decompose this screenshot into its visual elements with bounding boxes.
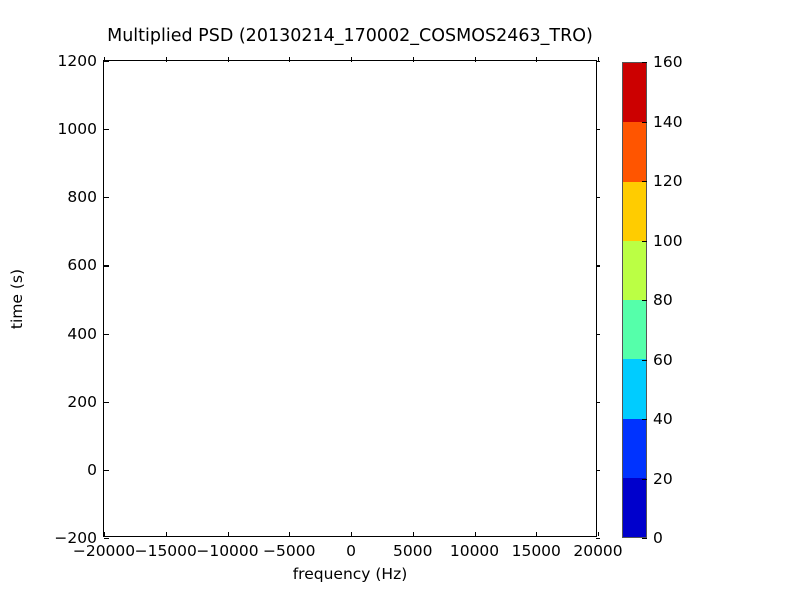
x-tick-label: 15000 — [512, 542, 561, 560]
main-axes: −200020040060080010001200 −20000−15000−1… — [103, 60, 597, 537]
colorbar-tick-mark — [642, 419, 647, 420]
y-tick-mark — [104, 538, 109, 539]
x-tick-mark — [598, 532, 599, 537]
y-tick-label: 1000 — [58, 120, 97, 138]
colorbar-band — [623, 63, 646, 122]
chart-title: Multiplied PSD (20130214_170002_COSMOS24… — [0, 26, 700, 46]
colorbar-tick-label: 80 — [653, 291, 673, 309]
x-tick-label: −15000 — [135, 542, 197, 560]
y-tick-label: 0 — [87, 461, 97, 479]
y-tick-label: 800 — [67, 188, 97, 206]
colorbar-band — [623, 419, 646, 478]
colorbar-band — [623, 359, 646, 418]
colorbar-band — [623, 478, 646, 537]
x-tick-mark — [166, 532, 167, 537]
y-tick-mark-right — [596, 197, 601, 198]
x-tick-mark — [104, 532, 105, 537]
colorbar-tick-label: 160 — [653, 53, 683, 71]
x-tick-mark-top — [228, 57, 229, 62]
x-tick-mark-top — [536, 57, 537, 62]
y-tick-label: 400 — [67, 325, 97, 343]
colorbar-band — [623, 300, 646, 359]
x-tick-label: −10000 — [196, 542, 258, 560]
x-tick-label: −5000 — [263, 542, 315, 560]
colorbar-tick-label: 60 — [653, 351, 673, 369]
x-tick-mark — [475, 532, 476, 537]
colorbar-tick-mark — [642, 479, 647, 480]
y-tick-mark — [104, 197, 109, 198]
colorbar-band — [623, 182, 646, 241]
x-tick-mark — [413, 532, 414, 537]
colorbar-band — [623, 241, 646, 300]
y-tick-mark-right — [596, 470, 601, 471]
y-tick-mark-right — [596, 402, 601, 403]
colorbar-tick-mark — [642, 300, 647, 301]
x-tick-mark-top — [351, 57, 352, 62]
figure-canvas: Multiplied PSD (20130214_170002_COSMOS24… — [0, 0, 800, 600]
y-axis-label: time (s) — [8, 269, 26, 329]
colorbar-tick-mark — [642, 62, 647, 63]
y-tick-label: 200 — [67, 393, 97, 411]
x-tick-label: 0 — [346, 542, 356, 560]
x-tick-mark-top — [289, 57, 290, 62]
y-tick-mark — [104, 470, 109, 471]
y-tick-label: 1200 — [58, 52, 97, 70]
colorbar-tick-label: 0 — [653, 529, 663, 547]
colorbar-tick-label: 140 — [653, 113, 683, 131]
colorbar-tick-mark — [642, 538, 647, 539]
x-tick-mark-top — [598, 57, 599, 62]
x-tick-mark-top — [413, 57, 414, 62]
colorbar-tick-label: 20 — [653, 470, 673, 488]
y-tick-mark — [104, 129, 109, 130]
x-tick-label: 20000 — [573, 542, 622, 560]
y-tick-mark-right — [596, 129, 601, 130]
x-tick-mark — [536, 532, 537, 537]
colorbar-tick-label: 40 — [653, 410, 673, 428]
y-tick-mark-right — [596, 334, 601, 335]
x-tick-mark — [228, 532, 229, 537]
y-tick-mark-right — [596, 265, 601, 266]
y-tick-mark-right — [596, 538, 601, 539]
colorbar-tick-label: 120 — [653, 172, 683, 190]
x-tick-label: −20000 — [73, 542, 135, 560]
y-tick-mark — [104, 402, 109, 403]
colorbar-tick-mark — [642, 360, 647, 361]
x-tick-label: 10000 — [450, 542, 499, 560]
x-tick-mark — [351, 532, 352, 537]
x-tick-mark-top — [104, 57, 105, 62]
colorbar-tick-mark — [642, 181, 647, 182]
colorbar-tick-mark — [642, 122, 647, 123]
x-tick-mark-top — [166, 57, 167, 62]
y-tick-mark — [104, 334, 109, 335]
y-tick-label: 600 — [67, 256, 97, 274]
x-tick-mark — [289, 532, 290, 537]
colorbar-tick-mark — [642, 241, 647, 242]
x-axis-label: frequency (Hz) — [103, 565, 597, 583]
y-tick-mark — [104, 265, 109, 266]
x-tick-mark-top — [475, 57, 476, 62]
colorbar-tick-label: 100 — [653, 232, 683, 250]
colorbar-band — [623, 122, 646, 181]
x-tick-label: 5000 — [393, 542, 432, 560]
